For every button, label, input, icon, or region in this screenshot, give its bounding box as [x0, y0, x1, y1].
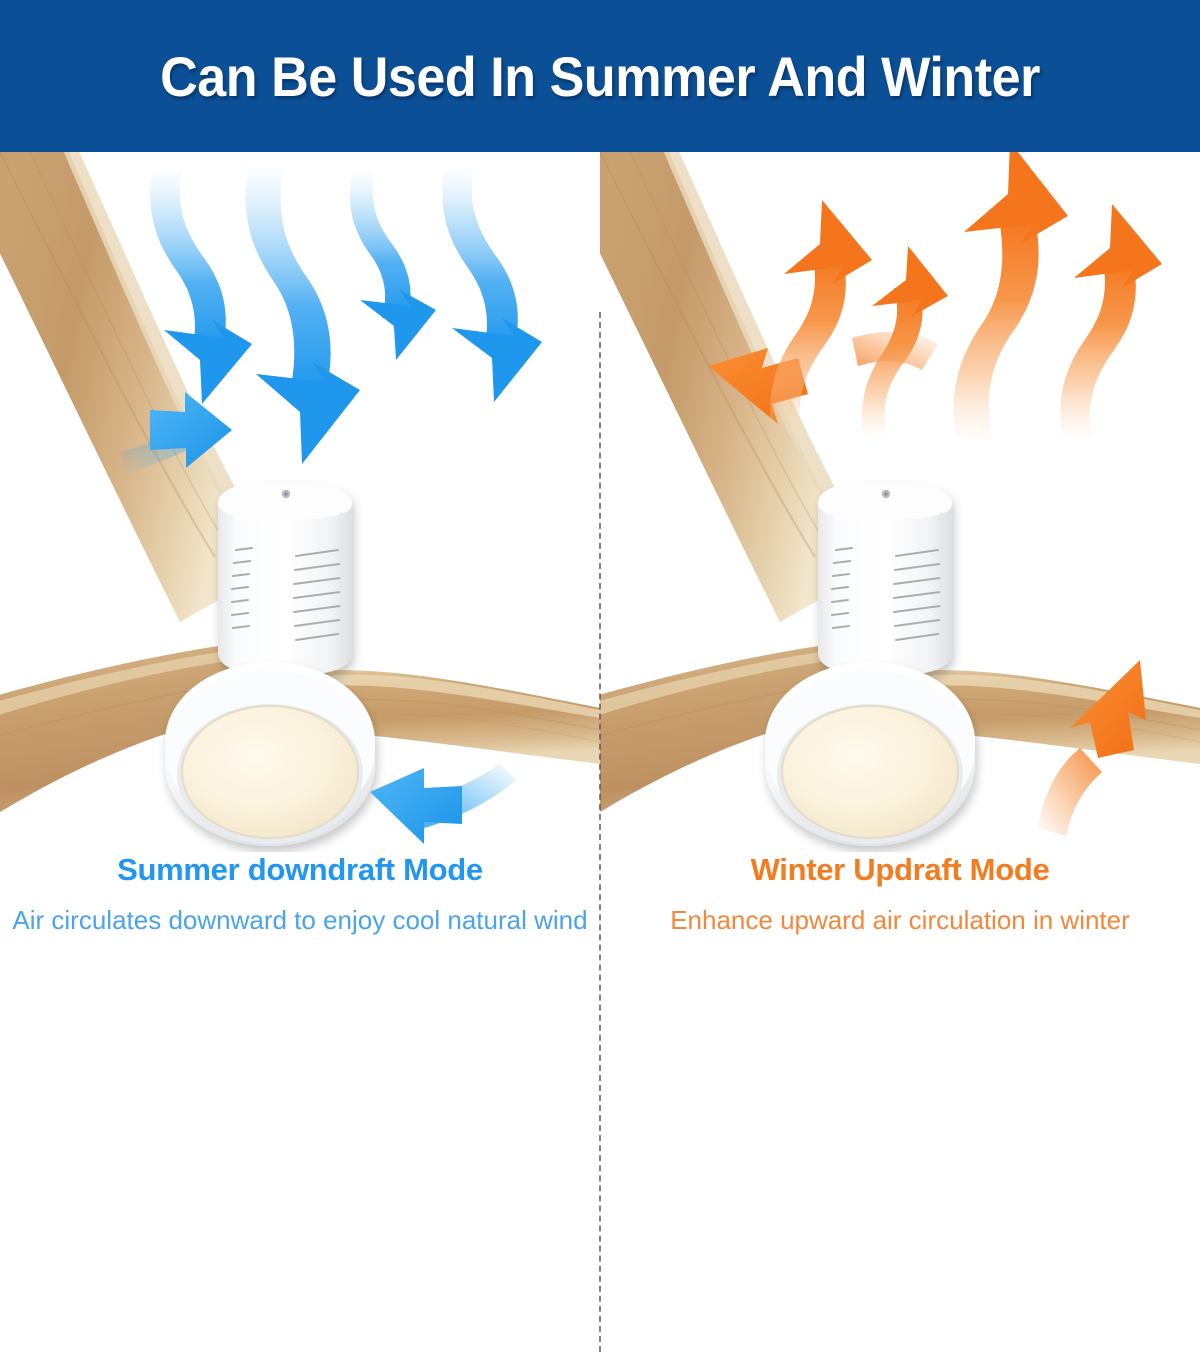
winter-fan-illustration [600, 152, 1200, 852]
fan-motor-housing [218, 482, 352, 676]
fan-light-ring [165, 662, 375, 846]
comparison-stage: Summer downdraft Mode Air circulates dow… [0, 152, 1200, 1200]
fan-motor-housing [818, 482, 952, 676]
winter-mode-subtitle: Enhance upward air circulation in winter [600, 904, 1200, 937]
winter-fan-svg [600, 152, 1200, 852]
fan-light-ring [765, 662, 975, 846]
winter-mode-title: Winter Updraft Mode [600, 852, 1200, 888]
page-title: Can Be Used In Summer And Winter [160, 44, 1040, 109]
summer-fan-illustration [0, 152, 600, 852]
summer-fan-svg [0, 152, 600, 852]
winter-caption: Winter Updraft Mode Enhance upward air c… [600, 852, 1200, 937]
summer-mode-title: Summer downdraft Mode [0, 852, 600, 888]
panel-summer: Summer downdraft Mode Air circulates dow… [0, 152, 600, 1200]
panel-divider [599, 312, 601, 1352]
panel-winter: Winter Updraft Mode Enhance upward air c… [600, 152, 1200, 1200]
summer-mode-subtitle: Air circulates downward to enjoy cool na… [0, 904, 600, 937]
header-banner: Can Be Used In Summer And Winter [0, 0, 1200, 152]
summer-caption: Summer downdraft Mode Air circulates dow… [0, 852, 600, 937]
